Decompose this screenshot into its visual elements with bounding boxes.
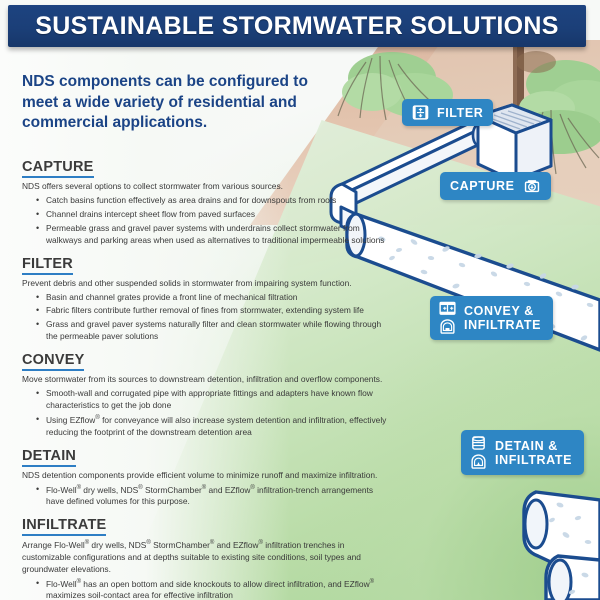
filter-basin-icon xyxy=(412,104,429,121)
callout-capture[interactable]: CAPTURE xyxy=(440,172,551,200)
bullet-item: Channel drains intercept sheet flow from… xyxy=(36,209,387,221)
bullet-list-convey: Smooth-wall and corrugated pipe with app… xyxy=(36,388,387,438)
callout-convey-infiltrate[interactable]: CONVEY & INFILTRATE xyxy=(430,296,553,340)
bullet-list-infiltrate: Flo-Well® has an open bottom and side kn… xyxy=(36,578,387,600)
section-lead-infiltrate: Arrange Flo-Well® dry wells, NDS® StormC… xyxy=(22,539,387,576)
callout-convey-label: CONVEY & xyxy=(464,304,534,318)
bullet-list-filter: Basin and channel grates provide a front… xyxy=(36,292,387,344)
bullet-item: Basin and channel grates provide a front… xyxy=(36,292,387,304)
callout-detain-infiltrate[interactable]: DETAIN & INFILTRATE xyxy=(461,430,584,475)
intro-statement: NDS components can be configured to meet… xyxy=(22,72,342,134)
ezflow-pipe-icon xyxy=(439,319,456,335)
section-heading-infiltrate: INFILTRATE xyxy=(22,517,106,536)
intro-line-1: NDS components can be configured to xyxy=(22,72,342,93)
channel-drain-icon xyxy=(439,301,456,316)
callout-filter[interactable]: FILTER xyxy=(402,99,493,126)
section-detain: DETAINNDS detention components provide e… xyxy=(22,447,387,509)
section-capture: CAPTURENDS offers several options to col… xyxy=(22,158,387,247)
callout-capture-label: CAPTURE xyxy=(450,179,515,193)
section-lead-detain: NDS detention components provide efficie… xyxy=(22,470,387,482)
callout-detain-label-2: INFILTRATE xyxy=(495,453,572,467)
section-lead-capture: NDS offers several options to collect st… xyxy=(22,181,387,193)
section-heading-detain: DETAIN xyxy=(22,448,76,467)
bullet-item: Grass and gravel paver systems naturally… xyxy=(36,319,387,343)
intro-line-3: commercial applications. xyxy=(22,113,342,134)
infographic-canvas: SUSTAINABLE STORMWATER SOLUTIONS NDS com… xyxy=(0,0,600,600)
ezflow-trench-bundle xyxy=(524,492,600,600)
section-infiltrate: INFILTRATEArrange Flo-Well® dry wells, N… xyxy=(22,516,387,600)
section-filter: FILTERPrevent debris and other suspended… xyxy=(22,255,387,344)
bullet-item: Catch basins function effectively as are… xyxy=(36,195,387,207)
section-convey: CONVEYMove stormwater from its sources t… xyxy=(22,351,387,438)
section-lead-filter: Prevent debris and other suspended solid… xyxy=(22,278,387,290)
section-heading-capture: CAPTURE xyxy=(22,159,94,178)
section-heading-filter: FILTER xyxy=(22,256,73,275)
section-heading-convey: CONVEY xyxy=(22,352,84,371)
callout-filter-label: FILTER xyxy=(437,106,483,120)
section-lead-convey: Move stormwater from its sources to down… xyxy=(22,374,387,386)
intro-line-2: meet a wide variety of residential and xyxy=(22,93,342,114)
bullet-item: Flo-Well® has an open bottom and side kn… xyxy=(36,578,387,600)
bullet-item: Flo-Well® dry wells, NDS® StormChamber® … xyxy=(36,484,387,509)
bullet-item: Permeable grass and gravel paver systems… xyxy=(36,223,387,247)
bullet-list-detain: Flo-Well® dry wells, NDS® StormChamber® … xyxy=(36,484,387,509)
sections-column: CAPTURENDS offers several options to col… xyxy=(22,158,387,600)
bullet-item: Fabric filters contribute further remova… xyxy=(36,305,387,317)
capture-basin-icon xyxy=(523,177,541,195)
bullet-item: Using EZflow® for conveyance will also i… xyxy=(36,414,387,439)
drywell-icon xyxy=(470,435,487,451)
bullet-item: Smooth-wall and corrugated pipe with app… xyxy=(36,388,387,412)
bullet-list-capture: Catch basins function effectively as are… xyxy=(36,195,387,247)
page-title: SUSTAINABLE STORMWATER SOLUTIONS xyxy=(35,12,559,41)
stormchamber-icon xyxy=(470,454,487,470)
callout-detain-label: DETAIN & xyxy=(495,439,558,453)
header-banner: SUSTAINABLE STORMWATER SOLUTIONS xyxy=(8,5,586,47)
callout-convey-label-2: INFILTRATE xyxy=(464,318,541,332)
